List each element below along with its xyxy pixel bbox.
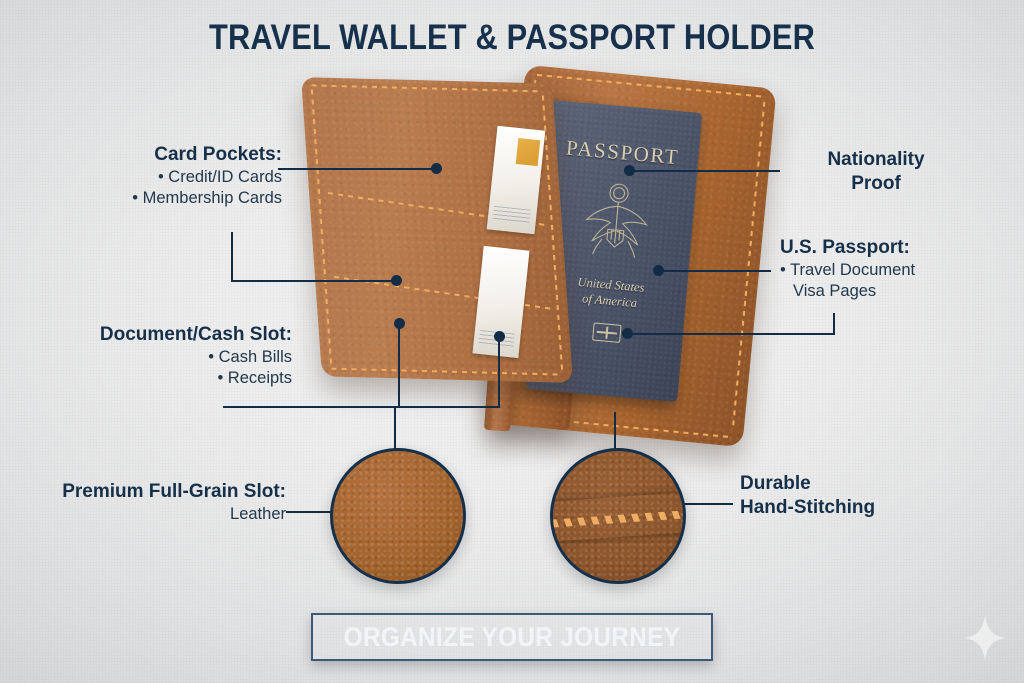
annotation-item: • Credit/ID Cards	[60, 167, 282, 188]
annotation-document-cash-slot: Document/Cash Slot: • Cash Bills • Recei…	[30, 323, 292, 389]
hotspot-dot-visa-pages	[622, 328, 633, 339]
page-title: TRAVEL WALLET & PASSPORT HOLDER	[61, 18, 962, 58]
leader-line-visa-pages-v	[833, 313, 835, 335]
annotation-hand-stitching: Durable Hand-Stitching	[740, 472, 990, 520]
leader-line-visa-pages-h	[628, 333, 835, 335]
cta-banner[interactable]: ORGANIZE YOUR JOURNEY	[311, 613, 713, 661]
leader-line-document-slot-v2	[498, 338, 500, 406]
biometric-chip-icon	[592, 323, 621, 343]
leader-line-nationality	[630, 170, 780, 172]
annotation-item: • Travel Document	[780, 260, 1000, 281]
hotspot-dot-us-passport	[653, 265, 664, 276]
annotation-item: Leather	[10, 504, 286, 525]
annotation-us-passport: U.S. Passport: • Travel Document Visa Pa…	[780, 236, 1000, 302]
annotation-heading: Premium Full-Grain Slot:	[10, 480, 286, 504]
leader-line-card-pockets-lower-v	[231, 232, 233, 282]
hotspot-dot-document-slot	[394, 318, 405, 329]
annotation-heading: Card Pockets:	[60, 143, 282, 167]
annotation-premium-leather: Premium Full-Grain Slot: Leather	[10, 480, 286, 525]
annotation-card-pockets: Card Pockets: • Credit/ID Cards • Member…	[60, 143, 282, 209]
leader-line-document-slot-v1	[398, 325, 400, 407]
product-photo-wallet: PASSPORT United States of America	[300, 70, 770, 445]
leader-line-hand-stitching	[678, 503, 733, 505]
leader-line-grain-circle-v	[394, 408, 396, 450]
hotspot-dot-nationality	[624, 165, 635, 176]
card-detail-lines	[493, 206, 531, 226]
annotation-nationality-proof: Nationality Proof	[786, 148, 966, 196]
four-point-star-icon	[964, 615, 1006, 661]
annotation-heading: Durable	[740, 472, 990, 496]
annotation-item: • Membership Cards	[60, 188, 282, 209]
eagle-seal-icon	[577, 177, 658, 261]
annotation-item: • Receipts	[30, 368, 292, 389]
leader-line-stitch-circle-v	[614, 412, 616, 450]
leader-line-card-pockets	[278, 168, 436, 170]
detail-circle-hand-stitching	[550, 448, 686, 584]
hotspot-dot-card-pockets	[431, 163, 442, 174]
annotation-heading: Document/Cash Slot:	[30, 323, 292, 347]
infographic-canvas: TRAVEL WALLET & PASSPORT HOLDER PASSPORT	[0, 0, 1024, 683]
leader-line-us-passport	[659, 270, 771, 272]
annotation-item: Hand-Stitching	[740, 496, 990, 520]
card-gold-accent	[516, 138, 541, 166]
leader-line-premium-leather	[286, 511, 334, 513]
hotspot-dot-card-pockets-lower	[391, 275, 402, 286]
leader-line-document-slot	[223, 406, 500, 408]
annotation-item: Proof	[786, 172, 966, 196]
cta-banner-text: ORGANIZE YOUR JOURNEY	[344, 622, 681, 653]
annotation-item: Visa Pages	[780, 281, 1000, 302]
annotation-heading: U.S. Passport:	[780, 236, 1000, 260]
leader-line-card-pockets-lower-h	[231, 280, 396, 282]
annotation-item: • Cash Bills	[30, 347, 292, 368]
detail-circle-leather-grain	[330, 448, 466, 584]
annotation-heading: Nationality	[786, 148, 966, 172]
hotspot-dot-cash-slot	[494, 331, 505, 342]
leather-grain-closeup-texture	[330, 448, 466, 584]
